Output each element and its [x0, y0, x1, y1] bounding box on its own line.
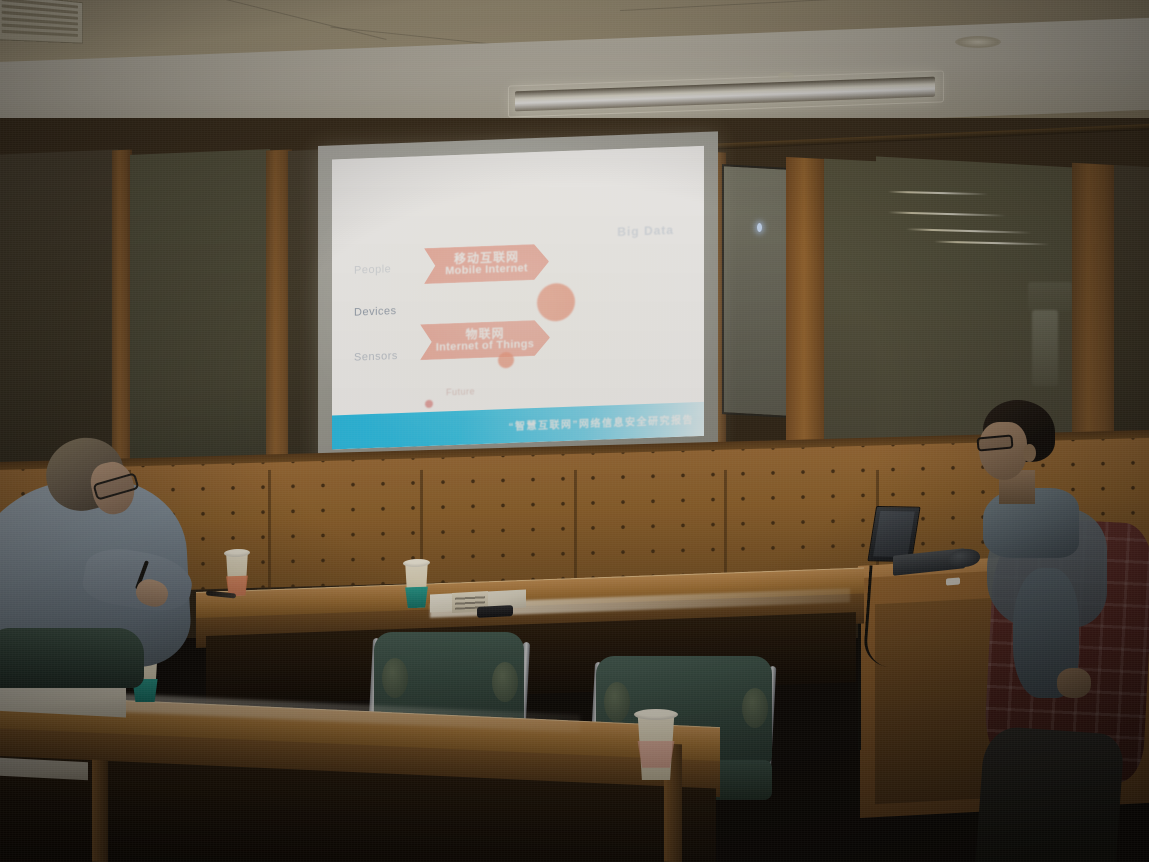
chair-detail	[604, 682, 630, 722]
conference-room-photo: Big Data People Devices Sensors 移动互联网 Mo…	[0, 0, 1149, 862]
projection-surface: Big Data People Devices Sensors 移动互联网 Mo…	[332, 146, 704, 450]
presentation-slide: Big Data People Devices Sensors 移动互联网 Mo…	[332, 146, 704, 450]
panel-seam	[574, 470, 577, 595]
projection-screen: Big Data People Devices Sensors 移动互联网 Mo…	[318, 131, 718, 464]
power-cable	[858, 620, 872, 750]
banner-en-text: Mobile Internet	[445, 263, 528, 278]
presenter-hand	[1057, 668, 1091, 698]
slide-bottom-bar-text: “智慧互联网”网络信息安全研究报告	[509, 411, 695, 433]
slide-bubble-tiny	[425, 400, 433, 408]
slide-footer-note: Future	[446, 386, 475, 397]
presenter-legs	[973, 725, 1125, 862]
attendee-chair[interactable]	[0, 628, 144, 688]
paper-cup-pink-front[interactable]	[634, 712, 678, 780]
slide-label-devices: Devices	[354, 305, 397, 319]
wall-panel	[824, 159, 878, 486]
panel-seam	[268, 470, 271, 595]
paper-cup-teal-back[interactable]	[403, 562, 430, 609]
desk-leg	[92, 760, 108, 862]
attendee-left	[0, 432, 218, 692]
chair-detail	[382, 658, 408, 698]
slide-label-sensors: Sensors	[354, 350, 398, 364]
banner-en-text: Internet of Things	[436, 339, 534, 354]
slide-banner-internet-of-things: 物联网 Internet of Things	[420, 319, 550, 360]
slide-label-people: People	[354, 263, 391, 276]
slide-banner-mobile-internet: 移动互联网 Mobile Internet	[424, 244, 549, 285]
presenter-right	[965, 400, 1149, 860]
slide-bottom-bar: “智慧互联网”网络信息安全研究报告	[332, 402, 704, 450]
paper-cup-orange[interactable]	[224, 552, 250, 597]
light-reflection	[1032, 310, 1058, 386]
air-vent-icon	[0, 0, 83, 44]
chair-detail	[492, 662, 518, 702]
presenter-face	[979, 422, 1027, 480]
wall-column	[786, 157, 826, 483]
projector-mount-icon	[778, 72, 794, 79]
slide-title-big-data: Big Data	[617, 223, 674, 239]
light-reflection	[1028, 282, 1072, 312]
remote-control[interactable]	[477, 605, 513, 618]
slide-bubble-large	[537, 283, 575, 322]
chair-detail	[742, 688, 768, 728]
whiteboard-highlight-icon	[757, 223, 762, 232]
downlight-icon	[955, 36, 1001, 48]
presenter-ear	[1023, 444, 1036, 462]
whiteboard	[722, 164, 790, 418]
slide-bubble-small	[498, 352, 514, 369]
usb-device-icon	[946, 577, 960, 585]
